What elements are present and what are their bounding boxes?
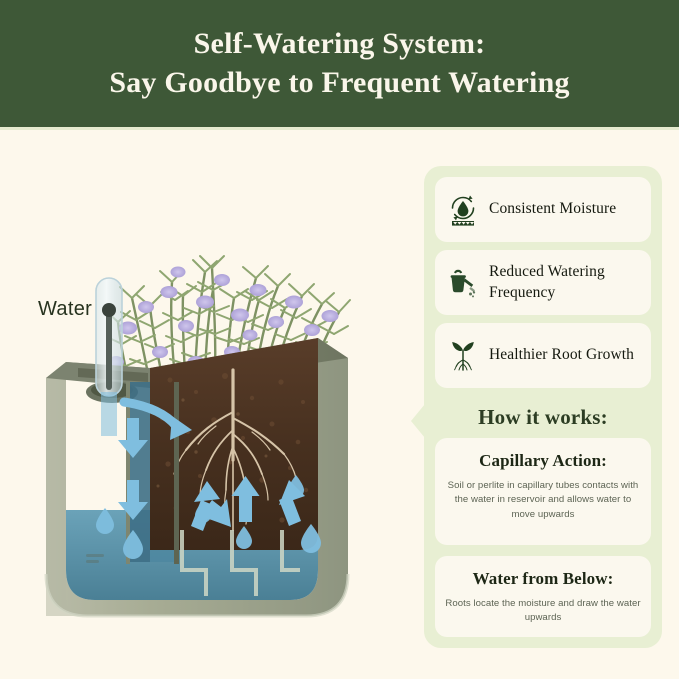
page-title-line-2: Say Goodbye to Frequent Watering (109, 65, 569, 102)
page-header: Self-Watering System: Say Goodbye to Fre… (0, 0, 679, 127)
step-card-water-from-below[interactable]: Water from Below: Roots locate the moist… (435, 556, 651, 637)
info-panel: Consistent Moisture Reduced Watering Fre… (424, 166, 662, 648)
planter-illustration (0, 130, 418, 679)
step-title: Capillary Action: (444, 451, 642, 471)
step-title: Water from Below: (444, 569, 642, 589)
step-body: Roots locate the moisture and draw the w… (444, 597, 642, 626)
step-card-capillary-action[interactable]: Capillary Action: Soil or perlite in cap… (435, 438, 651, 545)
page-title-line-1: Self-Watering System: (194, 26, 486, 63)
watering-can-icon (448, 266, 478, 300)
moisture-drop-icon (448, 193, 478, 227)
water-label: Water (38, 298, 92, 321)
planter-body (46, 330, 348, 620)
benefit-label: Consistent Moisture (489, 199, 616, 219)
fill-tube (96, 278, 122, 436)
step-body: Soil or perlite in capillary tubes conta… (444, 479, 642, 522)
benefit-label: Healthier Root Growth (489, 345, 634, 365)
benefit-card-healthier-root-growth[interactable]: Healthier Root Growth (435, 323, 651, 388)
benefit-label: Reduced Watering Frequency (489, 262, 643, 302)
benefit-card-consistent-moisture[interactable]: Consistent Moisture (435, 177, 651, 242)
how-it-works-title: How it works: (424, 405, 662, 430)
benefit-card-reduced-watering[interactable]: Reduced Watering Frequency (435, 250, 651, 315)
seedling-roots-icon (448, 339, 478, 373)
